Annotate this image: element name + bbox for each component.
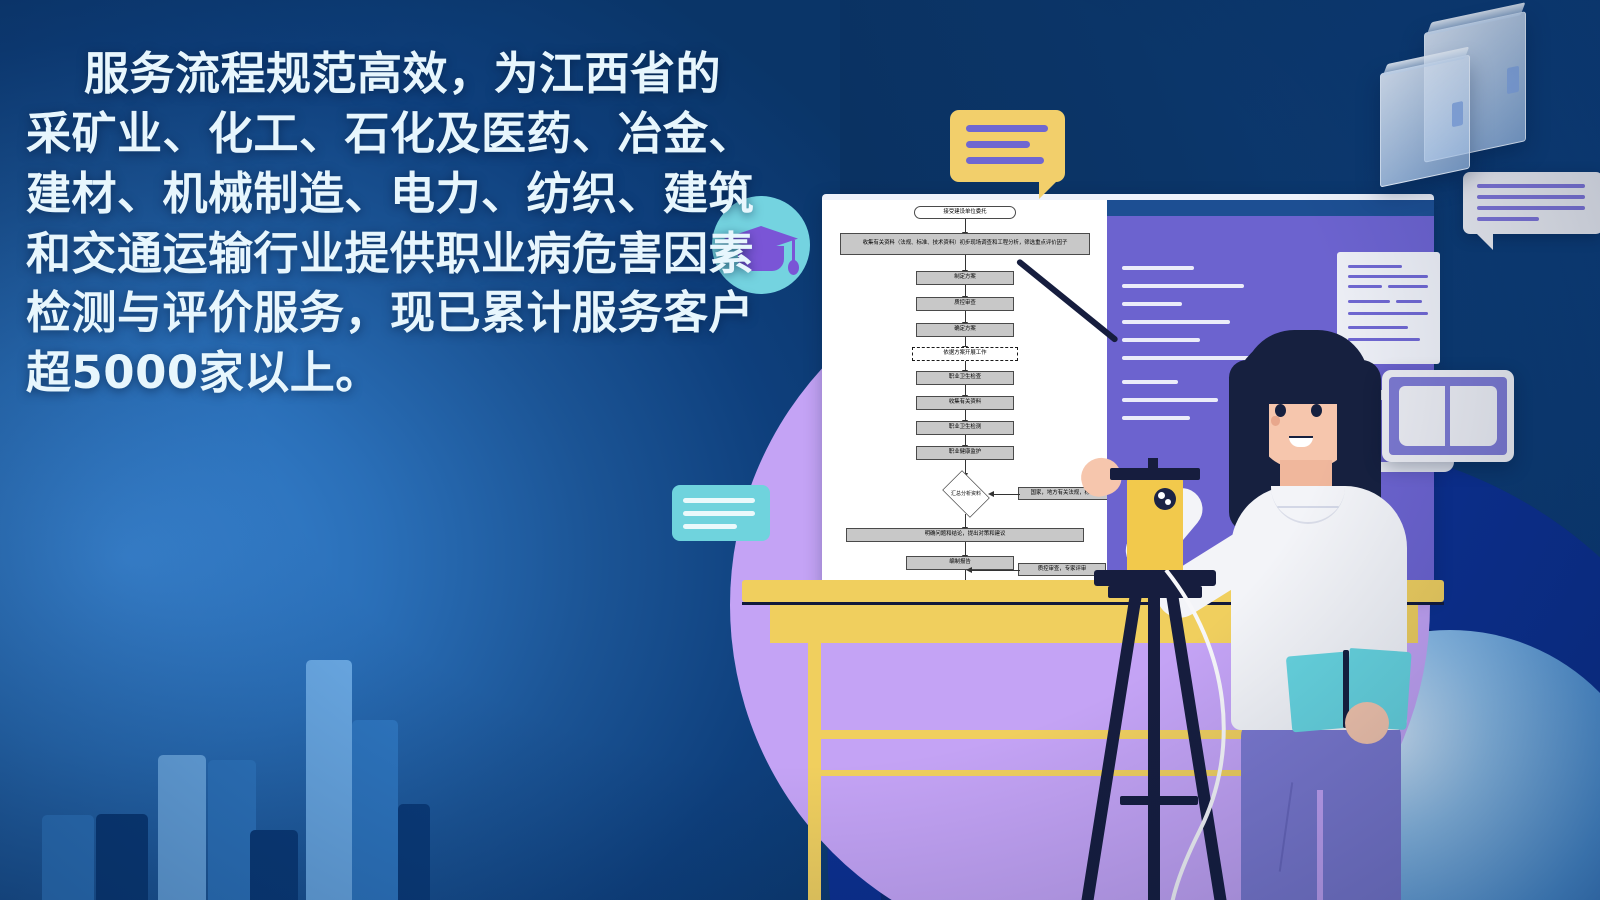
poster-canvas: 接受建设单位委托 收集有关资料（法规、标准、技术资料）初步现场调查和工程分析，筛… [0,0,1600,900]
page-title: 服务流程规范高效，为江西省的采矿业、化工、石化及医药、冶金、建材、机械制造、电力… [26,44,766,403]
flow-node-n11-label: 汇总分析资料 [951,491,981,497]
